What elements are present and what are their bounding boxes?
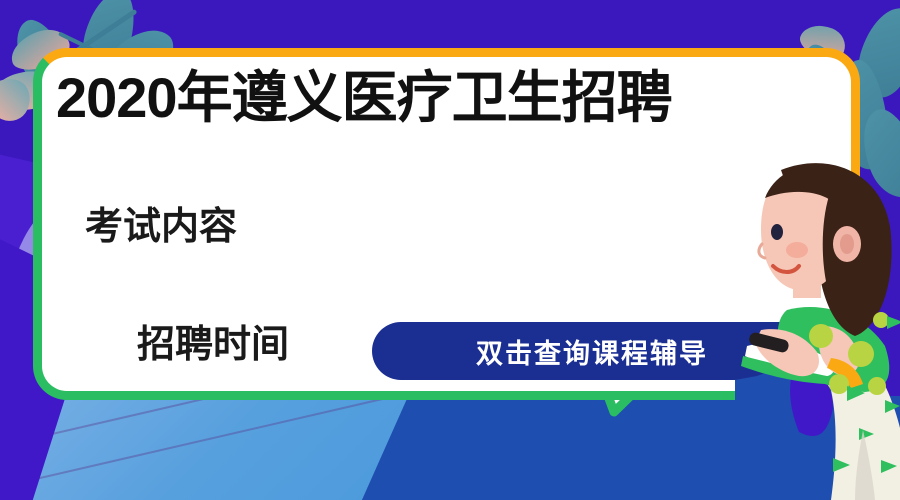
page-title: 2020年遵义医疗卫生招聘 <box>56 70 672 126</box>
section-label-exam-content: 考试内容 <box>85 208 237 246</box>
female-illustration <box>735 140 900 500</box>
banner-canvas: 2020年遵义医疗卫生招聘 考试内容 招聘时间 双击查询课程辅导 <box>0 0 900 500</box>
section-label-recruit-time: 招聘时间 <box>137 326 289 364</box>
